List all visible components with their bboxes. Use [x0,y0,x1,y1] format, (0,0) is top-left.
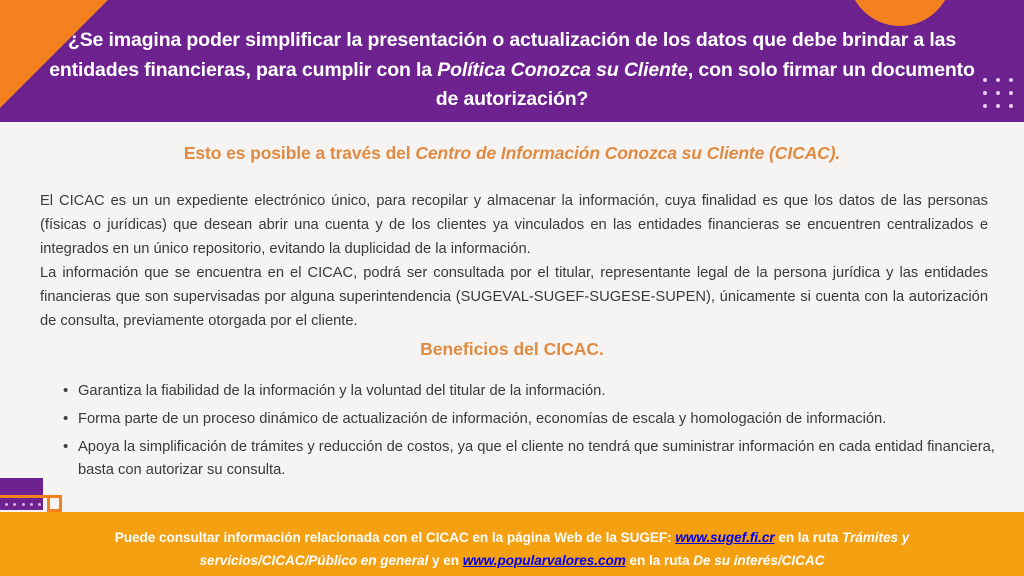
grid-dot [1009,104,1013,108]
popularvalores-link[interactable]: www.popularvalores.com [463,553,626,568]
banner-heading-emphasis: Política Conozca su Cliente [437,59,688,81]
slide-root: ¿Se imagina poder simplificar la present… [0,0,1024,576]
decoration-dot-row [5,502,41,507]
grid-dot [996,78,1000,82]
footer-line2-part-1: y en [428,553,462,568]
grid-dot [1009,78,1013,82]
top-banner: ¿Se imagina poder simplificar la present… [0,0,1024,122]
sugef-link[interactable]: www.sugef.fi.cr [675,530,774,545]
grid-dot [983,104,987,108]
grid-dot [1009,91,1013,95]
lead-heading-emphasis: Centro de Información Conozca su Cliente… [415,143,840,163]
bottom-left-decoration [0,476,72,514]
footer-line1-part-1: Puede consultar información relacionada … [115,530,676,545]
main-content: Esto es posible a través del Centro de I… [0,122,1024,512]
benefits-heading: Beneficios del CICAC. [40,339,984,360]
footer-line2-route: De su interés/CICAC [693,553,824,568]
dot-grid-decoration [979,74,1017,112]
decoration-dot [38,503,41,506]
decoration-dot [5,503,8,506]
list-item: Forma parte de un proceso dinámico de ac… [78,408,1018,432]
grid-dot [983,91,987,95]
footer-line2-part-2: en la ruta [626,553,693,568]
list-item: Garantiza la fiabilidad de la informació… [78,380,1018,404]
footer-text: Puede consultar información relacionada … [0,512,1024,573]
grid-dot [996,104,1000,108]
paragraph-consultation: La información que se encuentra en el CI… [40,262,988,333]
grid-dot [983,78,987,82]
decoration-orange-square [47,495,62,512]
decoration-dot [30,503,33,506]
benefits-list: Garantiza la fiabilidad de la informació… [56,380,1018,487]
footer-band: Puede consultar información relacionada … [0,512,1024,576]
semicircle-decoration [848,0,952,26]
lead-heading-plain: Esto es posible a través del [184,143,416,163]
decoration-dot [22,503,25,506]
paragraph-description: El CICAC es un un expediente electrónico… [40,190,988,261]
list-item: Apoya la simplificación de trámites y re… [78,436,1018,484]
grid-dot [996,91,1000,95]
footer-line1-part-2: en la ruta [775,530,842,545]
lead-heading: Esto es posible a través del Centro de I… [40,143,984,164]
banner-heading: ¿Se imagina poder simplificar la present… [46,26,978,115]
decoration-dot [13,503,16,506]
